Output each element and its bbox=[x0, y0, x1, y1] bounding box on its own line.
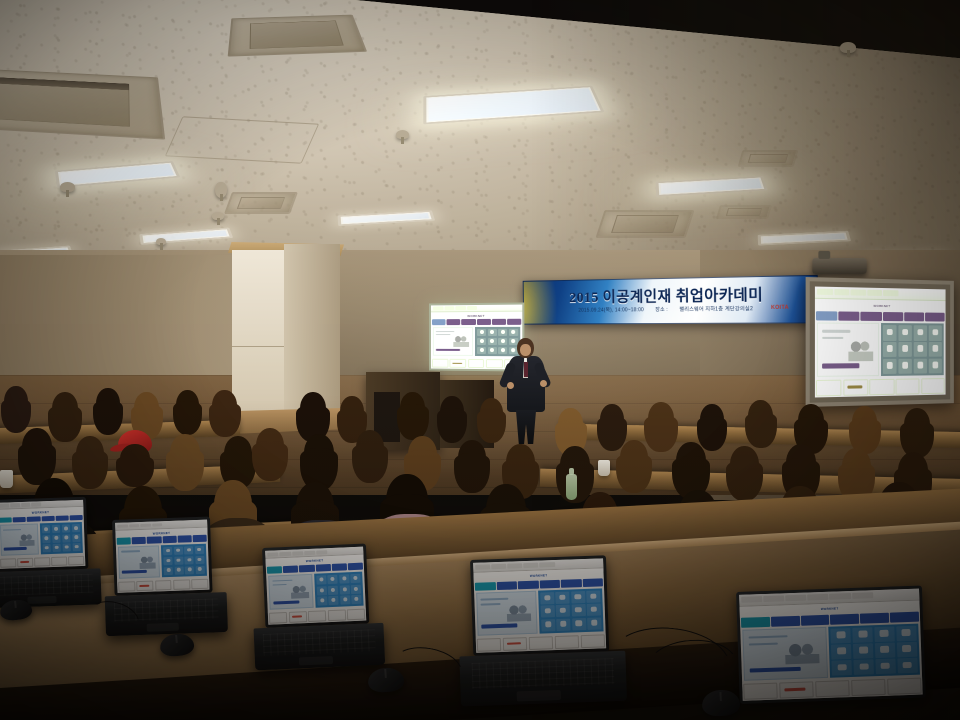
service-tile bbox=[317, 586, 327, 596]
promo-cta bbox=[4, 547, 26, 550]
sprinkler-5 bbox=[215, 182, 227, 198]
attendee-head bbox=[340, 396, 364, 424]
service-tile bbox=[339, 585, 349, 595]
banner-title: 2015 이공계인재 취업아카데미 bbox=[524, 282, 817, 307]
service-tile bbox=[913, 342, 927, 357]
laptop-lid: WORKNET bbox=[736, 586, 926, 704]
service-tile bbox=[62, 543, 71, 551]
page-body bbox=[815, 321, 946, 379]
site-logo: WORKNET bbox=[153, 531, 171, 536]
promo-cta bbox=[436, 349, 460, 352]
footer-box bbox=[17, 557, 33, 567]
service-tile bbox=[555, 591, 569, 603]
attendee-head bbox=[786, 444, 816, 478]
promo-cta bbox=[273, 600, 299, 604]
promo-panel bbox=[268, 574, 313, 610]
promo-line bbox=[3, 529, 20, 531]
service-tile-grid bbox=[881, 323, 944, 375]
column-seam bbox=[232, 346, 286, 347]
page-body bbox=[474, 586, 606, 637]
attendee-head bbox=[558, 408, 583, 437]
people-illustration bbox=[848, 336, 873, 360]
service-tile bbox=[195, 555, 204, 564]
side-screen-frame: WORKNET bbox=[806, 277, 954, 407]
ac-vent-mid bbox=[224, 192, 298, 214]
attendee-head bbox=[256, 428, 284, 460]
service-tile bbox=[556, 605, 570, 617]
footer-box bbox=[529, 636, 554, 650]
attendee-head bbox=[52, 392, 78, 422]
attendee-head bbox=[176, 390, 199, 417]
footer-box bbox=[851, 679, 886, 696]
attendee-head bbox=[212, 390, 237, 418]
sprinkler-3 bbox=[156, 238, 166, 245]
laptop-keys[interactable] bbox=[0, 574, 93, 596]
service-tile bbox=[329, 596, 339, 606]
service-tile bbox=[898, 358, 912, 373]
people-illustration bbox=[19, 532, 35, 546]
promo-line bbox=[481, 603, 501, 606]
laptop-screen[interactable]: WORKNET bbox=[473, 558, 606, 652]
service-tile bbox=[351, 595, 361, 605]
service-tile bbox=[883, 358, 897, 373]
promo-panel bbox=[817, 323, 879, 377]
site-logo: WORKNET bbox=[530, 573, 548, 578]
footer-box bbox=[308, 611, 326, 622]
service-tile bbox=[896, 626, 917, 641]
promo-panel bbox=[742, 627, 828, 681]
page-footer-links bbox=[815, 377, 946, 398]
laptop-keys[interactable] bbox=[471, 658, 615, 689]
footer-box bbox=[118, 581, 135, 591]
footer-box bbox=[432, 359, 448, 368]
page-footer-links bbox=[476, 633, 606, 653]
service-tile bbox=[174, 566, 183, 575]
service-tile bbox=[52, 534, 61, 542]
footer-box bbox=[779, 681, 814, 698]
service-tile bbox=[586, 590, 600, 602]
footer-box bbox=[843, 379, 868, 396]
paper-cup bbox=[598, 460, 610, 476]
service-tile bbox=[62, 534, 71, 542]
sprinkler-1 bbox=[60, 182, 75, 192]
attendee-head bbox=[458, 440, 486, 472]
promo-cta bbox=[122, 570, 146, 574]
service-tile-grid bbox=[314, 572, 363, 609]
footer-box bbox=[743, 683, 778, 700]
attendee-head bbox=[700, 404, 724, 432]
service-tile bbox=[488, 338, 497, 345]
service-tile bbox=[572, 618, 586, 630]
service-tile bbox=[62, 525, 71, 533]
service-tile bbox=[42, 535, 51, 543]
site-logo: WORKNET bbox=[32, 510, 50, 515]
footer-box bbox=[288, 612, 306, 623]
service-tile bbox=[540, 605, 554, 617]
service-tile-grid bbox=[40, 522, 83, 554]
laptop-webpage: WORKNET bbox=[0, 500, 85, 569]
footer-box bbox=[870, 378, 895, 395]
laptop-touchpad[interactable] bbox=[147, 623, 179, 632]
attendee-head bbox=[408, 436, 437, 469]
laptop-touchpad[interactable] bbox=[27, 596, 56, 604]
laptop-lid: WORKNET bbox=[470, 555, 609, 656]
promo-line bbox=[481, 597, 509, 600]
laptop-lid: WORKNET bbox=[262, 543, 369, 627]
banner-date: 2015.09.24(목), 14:00~18:00 bbox=[578, 307, 644, 314]
site-logo: WORKNET bbox=[306, 559, 324, 564]
event-banner: 2015 이공계인재 취업아카데미 2015.09.24(목), 14:00~1… bbox=[523, 275, 819, 325]
service-tile bbox=[316, 575, 326, 585]
service-tile bbox=[477, 329, 486, 336]
footer-box bbox=[468, 359, 485, 368]
laptop-webpage: WORKNET bbox=[115, 520, 209, 593]
page-footer-links bbox=[117, 578, 209, 593]
laptop-webpage: WORKNET bbox=[473, 558, 606, 652]
service-tile bbox=[185, 556, 194, 565]
service-tile bbox=[913, 358, 927, 373]
promo-line bbox=[822, 330, 851, 333]
service-tile bbox=[898, 326, 912, 341]
attendee-head bbox=[898, 452, 928, 486]
attendee-head bbox=[842, 448, 871, 481]
laptop-touchpad[interactable] bbox=[517, 689, 560, 701]
attendee-head-with-cap bbox=[120, 444, 150, 470]
service-tile bbox=[328, 585, 338, 595]
promo-panel bbox=[476, 591, 537, 636]
laptop-webpage: WORKNET bbox=[265, 547, 366, 625]
attendee-head bbox=[600, 404, 624, 432]
footer-box bbox=[269, 612, 287, 623]
site-logo: WORKNET bbox=[821, 607, 839, 612]
laptop-lid: WORKNET bbox=[0, 497, 88, 572]
footer-box bbox=[450, 359, 466, 368]
presenter bbox=[504, 338, 548, 444]
promo-line bbox=[436, 331, 454, 332]
attendee-head bbox=[76, 436, 104, 468]
banner-location-label: 장소 : bbox=[655, 307, 668, 313]
page-body bbox=[740, 621, 922, 682]
footer-box bbox=[815, 680, 850, 697]
ceiling-panel-outline bbox=[165, 116, 320, 163]
service-tile bbox=[174, 556, 183, 565]
attendee-head bbox=[676, 442, 706, 476]
service-tile bbox=[541, 619, 555, 631]
promo-line bbox=[121, 550, 140, 552]
attendee-head bbox=[852, 406, 877, 435]
service-tile bbox=[913, 326, 927, 341]
attendee-head bbox=[620, 440, 648, 472]
side-projection-screen: WORKNET bbox=[815, 287, 946, 398]
drink-bottle bbox=[566, 474, 577, 500]
service-tile-grid bbox=[161, 543, 207, 577]
footer-box bbox=[51, 556, 67, 566]
laptop-screen[interactable]: WORKNET bbox=[739, 589, 923, 701]
banner-logo: KOITA bbox=[771, 305, 789, 311]
promo-line bbox=[272, 584, 286, 586]
promo-cta bbox=[482, 624, 518, 629]
service-tile bbox=[540, 592, 554, 604]
attendee-head bbox=[22, 428, 52, 462]
vent-slot bbox=[0, 77, 129, 90]
attendee-head bbox=[224, 436, 252, 468]
laptop-keyboard-base[interactable] bbox=[254, 623, 386, 671]
page-body bbox=[0, 520, 85, 557]
promo-cta bbox=[750, 666, 801, 672]
service-tile bbox=[898, 342, 912, 357]
attendee-head bbox=[134, 392, 159, 421]
service-tile bbox=[195, 545, 204, 554]
service-tile bbox=[477, 347, 486, 354]
people-illustration bbox=[453, 334, 469, 347]
service-tile bbox=[184, 546, 193, 555]
page-body bbox=[266, 569, 366, 612]
site-logo: WORKNET bbox=[873, 304, 890, 308]
service-tile bbox=[339, 574, 349, 584]
service-tile bbox=[928, 358, 942, 373]
promo-panel bbox=[118, 545, 160, 579]
footer-box bbox=[34, 557, 50, 567]
people-illustration bbox=[291, 583, 309, 599]
footer-box bbox=[327, 610, 345, 621]
laptop-lid: WORKNET bbox=[112, 517, 213, 596]
attendee-head bbox=[904, 408, 930, 438]
service-tile bbox=[896, 642, 917, 657]
service-tile bbox=[185, 566, 194, 575]
promo-line bbox=[748, 635, 787, 639]
sprinkler-4 bbox=[396, 130, 409, 139]
service-tile bbox=[571, 604, 585, 616]
footer-box bbox=[503, 637, 528, 651]
presenter-hand-left bbox=[507, 382, 514, 389]
footer-box bbox=[486, 359, 503, 368]
service-tile bbox=[163, 557, 172, 566]
footer-box bbox=[554, 635, 579, 649]
service-tile bbox=[488, 329, 497, 336]
service-tile bbox=[883, 325, 897, 340]
service-tile bbox=[853, 643, 874, 658]
footer-box bbox=[477, 638, 502, 652]
ac-vent-left bbox=[0, 68, 165, 140]
service-tile bbox=[832, 660, 853, 675]
column-face bbox=[232, 250, 284, 422]
people-illustration bbox=[506, 602, 531, 622]
service-tile bbox=[72, 524, 81, 532]
laptop-screen[interactable]: WORKNET bbox=[265, 547, 366, 625]
site-logo: WORKNET bbox=[467, 313, 484, 317]
laptop-keys[interactable] bbox=[263, 629, 376, 656]
promo-panel bbox=[433, 327, 473, 356]
service-tile bbox=[72, 534, 81, 542]
footer-box bbox=[816, 379, 842, 396]
attendee-head bbox=[748, 400, 773, 429]
laptop-screen[interactable]: WORKNET bbox=[115, 520, 209, 593]
service-tile bbox=[897, 658, 918, 673]
attendee-head bbox=[356, 430, 384, 462]
footer-box bbox=[0, 558, 16, 568]
service-tile bbox=[174, 546, 183, 555]
promo-line bbox=[749, 642, 779, 645]
ceiling-projector bbox=[812, 258, 866, 274]
lecture-hall-photo: 2015 이공계인재 취업아카데미 2015.09.24(목), 14:00~1… bbox=[0, 0, 960, 720]
footer-box bbox=[887, 678, 922, 695]
footer-box bbox=[68, 556, 84, 566]
people-illustration bbox=[139, 553, 156, 568]
presenter-tie bbox=[524, 362, 528, 377]
banner-location: 팰리스웨어 지하1층 계단강의실2 bbox=[679, 306, 753, 313]
service-tile bbox=[830, 628, 851, 643]
attendee-head bbox=[480, 398, 503, 425]
promo-line bbox=[436, 334, 450, 335]
service-tile-grid bbox=[828, 624, 920, 678]
service-tile bbox=[351, 584, 361, 594]
promo-line bbox=[272, 580, 292, 583]
service-tile bbox=[928, 326, 942, 341]
service-tile bbox=[317, 596, 327, 606]
attendee-head bbox=[440, 396, 464, 424]
service-tile bbox=[556, 618, 570, 630]
footer-box bbox=[921, 378, 945, 394]
attendee-head bbox=[400, 392, 425, 421]
service-tile bbox=[328, 575, 338, 585]
service-tile bbox=[852, 627, 873, 642]
attendee-head bbox=[648, 402, 674, 432]
page-body bbox=[116, 541, 209, 581]
service-tile bbox=[72, 543, 81, 551]
attendee-head bbox=[96, 388, 120, 416]
attendee-head bbox=[798, 404, 824, 434]
service-tile bbox=[587, 604, 601, 616]
promo-line bbox=[822, 336, 844, 339]
presenter-hand-right bbox=[540, 380, 547, 387]
service-tile bbox=[874, 626, 895, 641]
laptop-touchpad[interactable] bbox=[299, 656, 333, 666]
attendee-head bbox=[730, 446, 759, 479]
presenter-legs bbox=[514, 410, 538, 444]
service-tile bbox=[52, 525, 61, 533]
service-tile bbox=[875, 643, 896, 658]
service-tile bbox=[163, 547, 172, 556]
service-tile bbox=[883, 342, 897, 357]
presenter-face bbox=[520, 344, 531, 356]
service-tile bbox=[477, 338, 486, 345]
service-tile bbox=[587, 617, 601, 629]
service-tile bbox=[196, 565, 205, 574]
page-footer-links bbox=[0, 555, 85, 569]
sprinkler-2 bbox=[212, 212, 224, 220]
service-tile bbox=[498, 329, 507, 337]
service-tile bbox=[928, 342, 942, 357]
service-tile bbox=[571, 591, 585, 603]
service-tile bbox=[875, 659, 896, 674]
promo-cta bbox=[822, 363, 859, 368]
people-illustration bbox=[785, 640, 820, 665]
service-tile bbox=[164, 567, 173, 576]
laptop-keyboard-base[interactable] bbox=[459, 651, 627, 707]
footer-box bbox=[580, 634, 605, 648]
attendee-head bbox=[300, 392, 326, 422]
paper-cup bbox=[0, 470, 13, 488]
promo-panel bbox=[0, 524, 39, 556]
service-tile bbox=[340, 595, 350, 605]
footer-box bbox=[896, 378, 920, 395]
computer-mouse[interactable] bbox=[701, 689, 740, 717]
attendee-head bbox=[170, 434, 200, 468]
service-tile bbox=[42, 525, 51, 533]
service-tile bbox=[488, 347, 497, 355]
footer-box bbox=[347, 609, 365, 620]
service-tile bbox=[509, 329, 518, 337]
attendee-head bbox=[506, 444, 535, 477]
ac-vent-top bbox=[228, 15, 367, 57]
service-tile bbox=[831, 644, 852, 659]
footer-box bbox=[191, 579, 208, 589]
footer-box bbox=[136, 581, 153, 591]
projected-webpage-side: WORKNET bbox=[815, 287, 946, 398]
footer-box bbox=[173, 579, 190, 589]
service-tile bbox=[53, 544, 62, 552]
service-tile-grid bbox=[538, 588, 604, 633]
service-tile bbox=[853, 660, 874, 675]
service-tile bbox=[43, 544, 52, 552]
attendee-head bbox=[4, 386, 28, 414]
footer-box bbox=[155, 580, 172, 590]
service-tile bbox=[350, 574, 360, 584]
laptop-webpage: WORKNET bbox=[739, 589, 923, 701]
attendee-head bbox=[304, 434, 334, 468]
laptop-screen[interactable]: WORKNET bbox=[0, 500, 85, 569]
